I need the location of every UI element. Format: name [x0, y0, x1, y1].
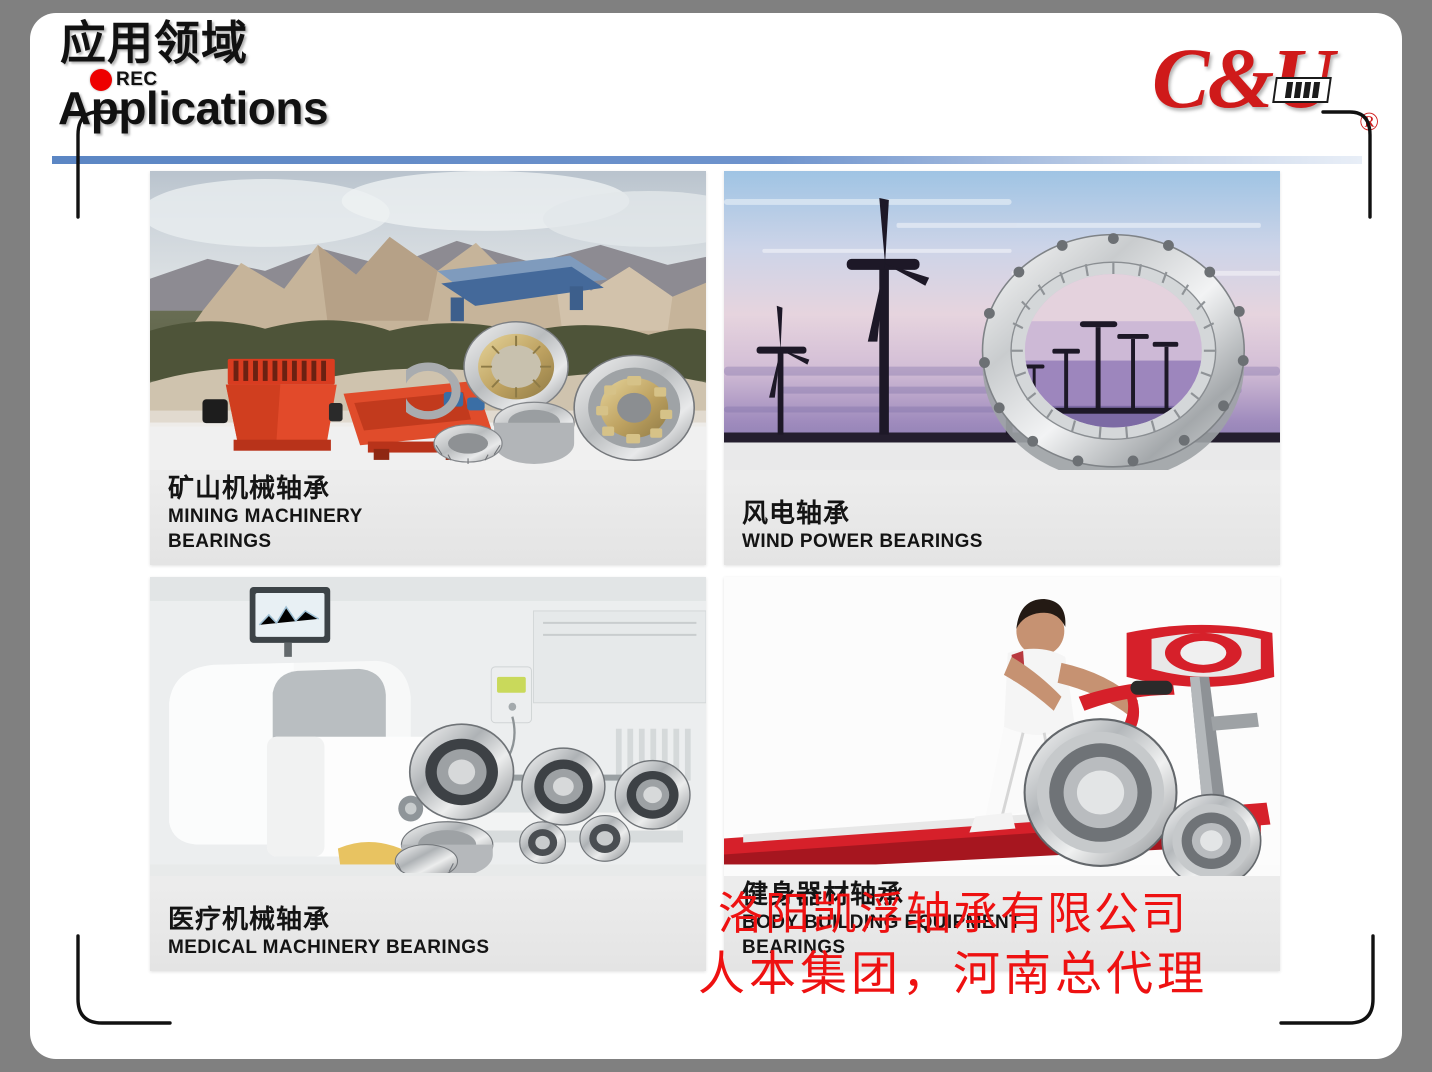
body-building-equipment-photo	[724, 577, 1280, 876]
header-divider	[52, 156, 1362, 164]
bracket-top-right	[1320, 109, 1382, 219]
mining-machinery-photo	[150, 171, 706, 470]
wind-power-title-cn: 风电轴承	[742, 499, 1272, 529]
mining-title-en-2: BEARINGS	[168, 531, 698, 553]
recording-label: REC	[116, 69, 158, 91]
recording-indicator: REC	[90, 69, 158, 91]
cu-logo-bar-icon	[1272, 77, 1332, 103]
record-dot-icon	[90, 69, 112, 91]
slide-header: 应用领域 Applications REC C&U ®	[30, 13, 1402, 163]
mining-title-en-1: MINING MACHINERY	[168, 506, 698, 528]
bracket-top-left	[68, 109, 128, 219]
medical-title-cn: 医疗机械轴承	[168, 905, 698, 935]
slide-canvas: 应用领域 Applications REC C&U ®	[30, 13, 1402, 1059]
mining-title-cn: 矿山机械轴承	[168, 474, 698, 504]
watermark-line-1: 洛阳凯浮轴承有限公司	[698, 885, 1208, 944]
bracket-bottom-left	[68, 933, 173, 1033]
watermark-line-2: 人本集团，河南总代理	[698, 944, 1208, 1006]
applications-grid: 矿山机械轴承 MINING MACHINERY BEARINGS	[150, 171, 1280, 971]
medical-caption: 医疗机械轴承 MEDICAL MACHINERY BEARINGS	[168, 905, 698, 959]
application-card-mining[interactable]: 矿山机械轴承 MINING MACHINERY BEARINGS	[150, 171, 706, 565]
medical-title-en-1: MEDICAL MACHINERY BEARINGS	[168, 937, 698, 959]
company-watermark: 洛阳凯浮轴承有限公司 人本集团，河南总代理	[698, 885, 1208, 1006]
application-card-medical[interactable]: 医疗机械轴承 MEDICAL MACHINERY BEARINGS	[150, 577, 706, 971]
application-card-wind-power[interactable]: 风电轴承 WIND POWER BEARINGS	[724, 171, 1280, 565]
wind-power-title-en-1: WIND POWER BEARINGS	[742, 531, 1272, 553]
wind-power-caption: 风电轴承 WIND POWER BEARINGS	[742, 499, 1272, 553]
mining-caption: 矿山机械轴承 MINING MACHINERY BEARINGS	[168, 474, 698, 553]
wind-power-photo	[724, 171, 1280, 470]
bracket-bottom-right	[1278, 933, 1383, 1033]
page-title-chinese: 应用领域	[60, 20, 248, 66]
medical-machinery-photo	[150, 577, 706, 876]
